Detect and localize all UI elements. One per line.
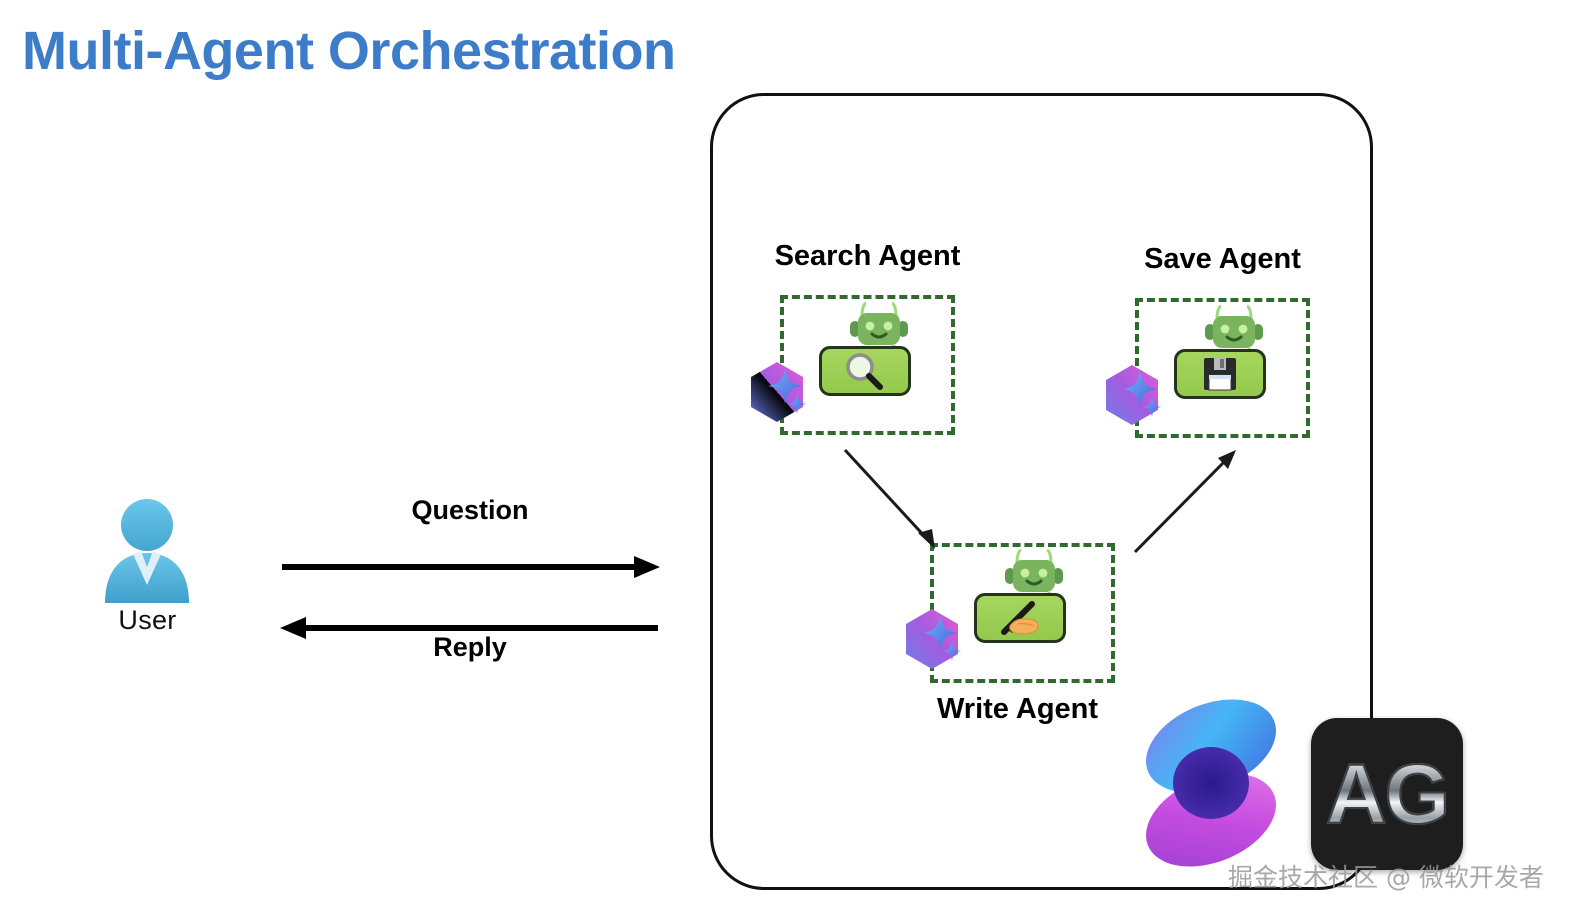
autogen-ag-text: AG: [1326, 746, 1448, 843]
autogen-ag-icon[interactable]: AG: [1311, 718, 1463, 870]
agent-label-search: Search Agent: [755, 240, 980, 273]
user-label: User: [95, 605, 200, 636]
agent-node-save[interactable]: Save Agent: [1110, 243, 1335, 443]
arrow-down-right-icon: [840, 445, 960, 555]
writing-hand-icon: [998, 599, 1042, 637]
question-label: Question: [270, 495, 670, 526]
tool-card-save[interactable]: [1174, 349, 1266, 399]
exchange-arrows: Question Reply: [270, 495, 670, 680]
page-title: Multi-Agent Orchestration: [22, 22, 676, 81]
floppy-disk-icon: [1201, 355, 1239, 393]
diagram-canvas: Multi-Agent Orchestration User Question: [0, 0, 1576, 914]
sparkle-hexagon-icon: [900, 607, 964, 673]
watermark-text: 掘金技术社区 @ 微软开发者: [1228, 858, 1544, 894]
reply-label: Reply: [270, 632, 670, 663]
copilot-ribbon-icon: [1136, 694, 1286, 872]
sparkle-hexagon-icon: [745, 360, 809, 426]
agent-label-write: Write Agent: [905, 693, 1130, 726]
arrow-up-right-icon: [1130, 440, 1250, 560]
user-node: User: [95, 495, 200, 645]
agent-node-write[interactable]: Write Agent: [905, 535, 1130, 735]
magnifier-icon: [843, 351, 887, 391]
agent-node-search[interactable]: Search Agent: [755, 240, 980, 440]
sparkle-hexagon-icon: [1100, 363, 1164, 429]
agent-label-save: Save Agent: [1110, 243, 1335, 276]
tool-card-write[interactable]: [974, 593, 1066, 643]
tool-card-search[interactable]: [819, 346, 911, 396]
user-avatar-icon: [95, 495, 200, 605]
